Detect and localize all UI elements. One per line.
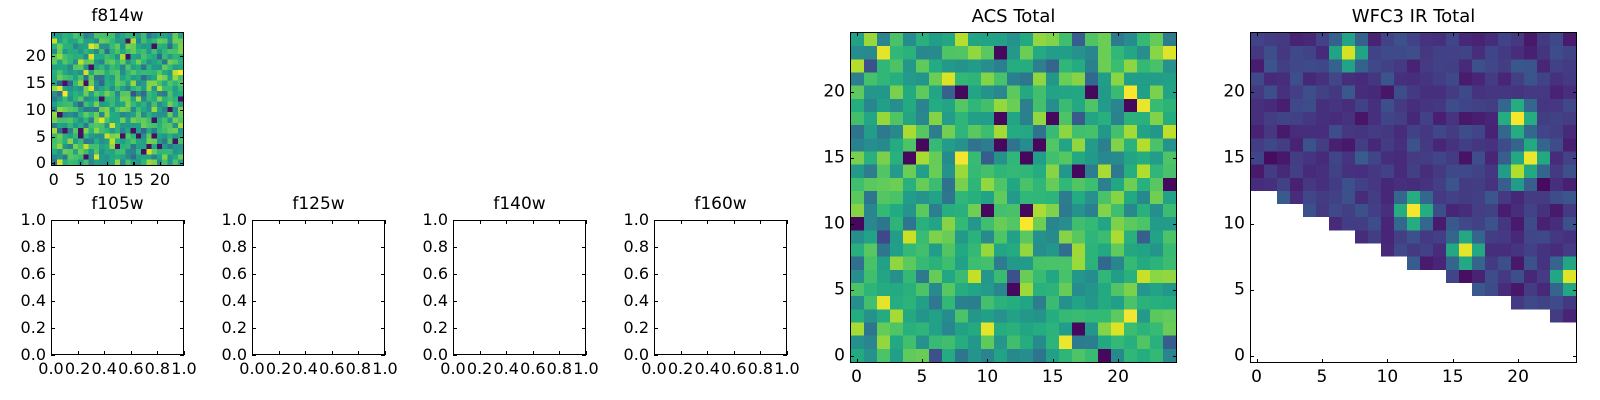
xticklabel-wfc3_ir_total-4: 20 bbox=[1507, 369, 1529, 386]
ytick-right-f125w-0 bbox=[381, 355, 385, 356]
xticklabel-f814w-0: 0 bbox=[49, 172, 59, 188]
yticklabel-f105w-4: 0.8 bbox=[21, 239, 46, 255]
xticklabel-acs_total-2: 10 bbox=[977, 369, 999, 386]
yticklabel-acs_total-0: 0 bbox=[834, 348, 845, 365]
xtick-f125w-5 bbox=[385, 351, 386, 355]
xticklabel-f160w-3: 0.6 bbox=[721, 361, 746, 377]
xticklabel-f140w-0: 0.0 bbox=[440, 361, 465, 377]
yticklabel-f160w-0: 0.0 bbox=[624, 347, 649, 363]
axes-wfc3_ir_total[interactable] bbox=[1250, 32, 1577, 363]
xticklabel-f105w-5: 1.0 bbox=[171, 361, 196, 377]
panel-title-wfc3_ir_total: WFC3 IR Total bbox=[1250, 8, 1577, 26]
xticklabel-wfc3_ir_total-1: 5 bbox=[1317, 369, 1328, 386]
xticklabel-f140w-3: 0.6 bbox=[520, 361, 545, 377]
yticklabel-acs_total-2: 10 bbox=[823, 215, 845, 232]
yticklabel-f105w-3: 0.6 bbox=[21, 266, 46, 282]
yticklabel-f105w-1: 0.2 bbox=[21, 320, 46, 336]
axes-f105w[interactable] bbox=[51, 220, 184, 355]
xtick-f140w-5 bbox=[586, 351, 587, 355]
xticklabel-f140w-4: 0.8 bbox=[547, 361, 572, 377]
xtick-f160w-5 bbox=[787, 351, 788, 355]
xticklabel-f814w-1: 5 bbox=[75, 172, 85, 188]
xticklabel-f105w-0: 0.0 bbox=[38, 361, 63, 377]
yticklabel-f125w-0: 0.0 bbox=[222, 347, 247, 363]
xticklabel-acs_total-0: 0 bbox=[851, 369, 862, 386]
yticklabel-f140w-1: 0.2 bbox=[423, 320, 448, 336]
ytick-f160w-0 bbox=[654, 355, 658, 356]
axes-acs_total[interactable] bbox=[850, 32, 1177, 363]
yticklabel-acs_total-1: 5 bbox=[834, 282, 845, 299]
ytick-right-f105w-0 bbox=[180, 355, 184, 356]
yticklabel-wfc3_ir_total-2: 10 bbox=[1223, 215, 1245, 232]
xticklabel-f160w-5: 1.0 bbox=[774, 361, 799, 377]
panel-title-f125w: f125w bbox=[252, 196, 385, 213]
yticklabel-f814w-0: 0 bbox=[36, 155, 46, 171]
xtick-top-f105w-5 bbox=[184, 220, 185, 224]
yticklabel-f814w-2: 10 bbox=[26, 102, 46, 118]
yticklabel-f140w-2: 0.4 bbox=[423, 293, 448, 309]
xticklabel-f160w-0: 0.0 bbox=[641, 361, 666, 377]
yticklabel-f105w-2: 0.4 bbox=[21, 293, 46, 309]
yticklabel-f160w-4: 0.8 bbox=[624, 239, 649, 255]
yticklabel-f125w-4: 0.8 bbox=[222, 239, 247, 255]
xticklabel-acs_total-1: 5 bbox=[917, 369, 928, 386]
yticklabel-f140w-5: 1.0 bbox=[423, 212, 448, 228]
xticklabel-f160w-4: 0.8 bbox=[748, 361, 773, 377]
yticklabel-f140w-4: 0.8 bbox=[423, 239, 448, 255]
heatmap-acs_total bbox=[851, 33, 1176, 362]
ytick-f105w-0 bbox=[51, 355, 55, 356]
yticklabel-wfc3_ir_total-1: 5 bbox=[1234, 282, 1245, 299]
panel-title-f160w: f160w bbox=[654, 196, 787, 213]
xtick-top-f160w-5 bbox=[787, 220, 788, 224]
yticklabel-acs_total-3: 15 bbox=[823, 149, 845, 166]
yticklabel-f160w-2: 0.4 bbox=[624, 293, 649, 309]
xticklabel-f140w-2: 0.4 bbox=[493, 361, 518, 377]
yticklabel-acs_total-4: 20 bbox=[823, 83, 845, 100]
xticklabel-f125w-1: 0.2 bbox=[266, 361, 291, 377]
yticklabel-f160w-1: 0.2 bbox=[624, 320, 649, 336]
xticklabel-f125w-2: 0.4 bbox=[292, 361, 317, 377]
yticklabel-f814w-1: 5 bbox=[36, 129, 46, 145]
figure-canvas: f814w0510152005101520f105w0.00.20.40.60.… bbox=[0, 0, 1600, 400]
panel-title-f140w: f140w bbox=[453, 196, 586, 213]
xticklabel-f105w-4: 0.8 bbox=[145, 361, 170, 377]
axes-f140w[interactable] bbox=[453, 220, 586, 355]
ytick-f125w-0 bbox=[252, 355, 256, 356]
xticklabel-f125w-3: 0.6 bbox=[319, 361, 344, 377]
xticklabel-f814w-3: 15 bbox=[123, 172, 143, 188]
xticklabel-wfc3_ir_total-3: 15 bbox=[1442, 369, 1464, 386]
ytick-right-f160w-0 bbox=[783, 355, 787, 356]
axes-f814w[interactable] bbox=[51, 32, 184, 166]
yticklabel-f125w-3: 0.6 bbox=[222, 266, 247, 282]
xticklabel-f105w-1: 0.2 bbox=[65, 361, 90, 377]
yticklabel-f125w-5: 1.0 bbox=[222, 212, 247, 228]
xticklabel-f125w-0: 0.0 bbox=[239, 361, 264, 377]
ytick-f140w-0 bbox=[453, 355, 457, 356]
yticklabel-f125w-2: 0.4 bbox=[222, 293, 247, 309]
panel-wfc3_ir_total: WFC3 IR Total0510152005101520 bbox=[0, 0, 1600, 400]
yticklabel-f105w-5: 1.0 bbox=[21, 212, 46, 228]
xticklabel-f140w-5: 1.0 bbox=[573, 361, 598, 377]
xticklabel-f125w-5: 1.0 bbox=[372, 361, 397, 377]
yticklabel-f160w-3: 0.6 bbox=[624, 266, 649, 282]
xtick-top-f125w-5 bbox=[385, 220, 386, 224]
xticklabel-f105w-3: 0.6 bbox=[118, 361, 143, 377]
xtick-f105w-5 bbox=[184, 351, 185, 355]
yticklabel-wfc3_ir_total-4: 20 bbox=[1223, 83, 1245, 100]
axes-f160w[interactable] bbox=[654, 220, 787, 355]
yticklabel-wfc3_ir_total-0: 0 bbox=[1234, 348, 1245, 365]
yticklabel-wfc3_ir_total-3: 15 bbox=[1223, 149, 1245, 166]
yticklabel-f814w-4: 20 bbox=[26, 48, 46, 64]
yticklabel-f160w-5: 1.0 bbox=[624, 212, 649, 228]
xtick-top-f140w-5 bbox=[586, 220, 587, 224]
yticklabel-f140w-0: 0.0 bbox=[423, 347, 448, 363]
heatmap-f814w bbox=[52, 33, 183, 165]
xticklabel-f160w-2: 0.4 bbox=[694, 361, 719, 377]
axes-f125w[interactable] bbox=[252, 220, 385, 355]
xticklabel-f814w-4: 20 bbox=[150, 172, 170, 188]
xticklabel-f105w-2: 0.4 bbox=[91, 361, 116, 377]
panel-title-acs_total: ACS Total bbox=[850, 8, 1177, 26]
yticklabel-f125w-1: 0.2 bbox=[222, 320, 247, 336]
yticklabel-f140w-3: 0.6 bbox=[423, 266, 448, 282]
xticklabel-wfc3_ir_total-2: 10 bbox=[1377, 369, 1399, 386]
xticklabel-f160w-1: 0.2 bbox=[668, 361, 693, 377]
xticklabel-acs_total-4: 20 bbox=[1107, 369, 1129, 386]
yticklabel-f105w-0: 0.0 bbox=[21, 347, 46, 363]
ytick-right-f140w-0 bbox=[582, 355, 586, 356]
xticklabel-f814w-2: 10 bbox=[97, 172, 117, 188]
xticklabel-acs_total-3: 15 bbox=[1042, 369, 1064, 386]
xticklabel-f125w-4: 0.8 bbox=[346, 361, 371, 377]
xticklabel-wfc3_ir_total-0: 0 bbox=[1251, 369, 1262, 386]
panel-title-f814w: f814w bbox=[51, 8, 184, 25]
panel-title-f105w: f105w bbox=[51, 196, 184, 213]
xticklabel-f140w-1: 0.2 bbox=[467, 361, 492, 377]
yticklabel-f814w-3: 15 bbox=[26, 75, 46, 91]
heatmap-wfc3_ir_total bbox=[1251, 33, 1576, 362]
